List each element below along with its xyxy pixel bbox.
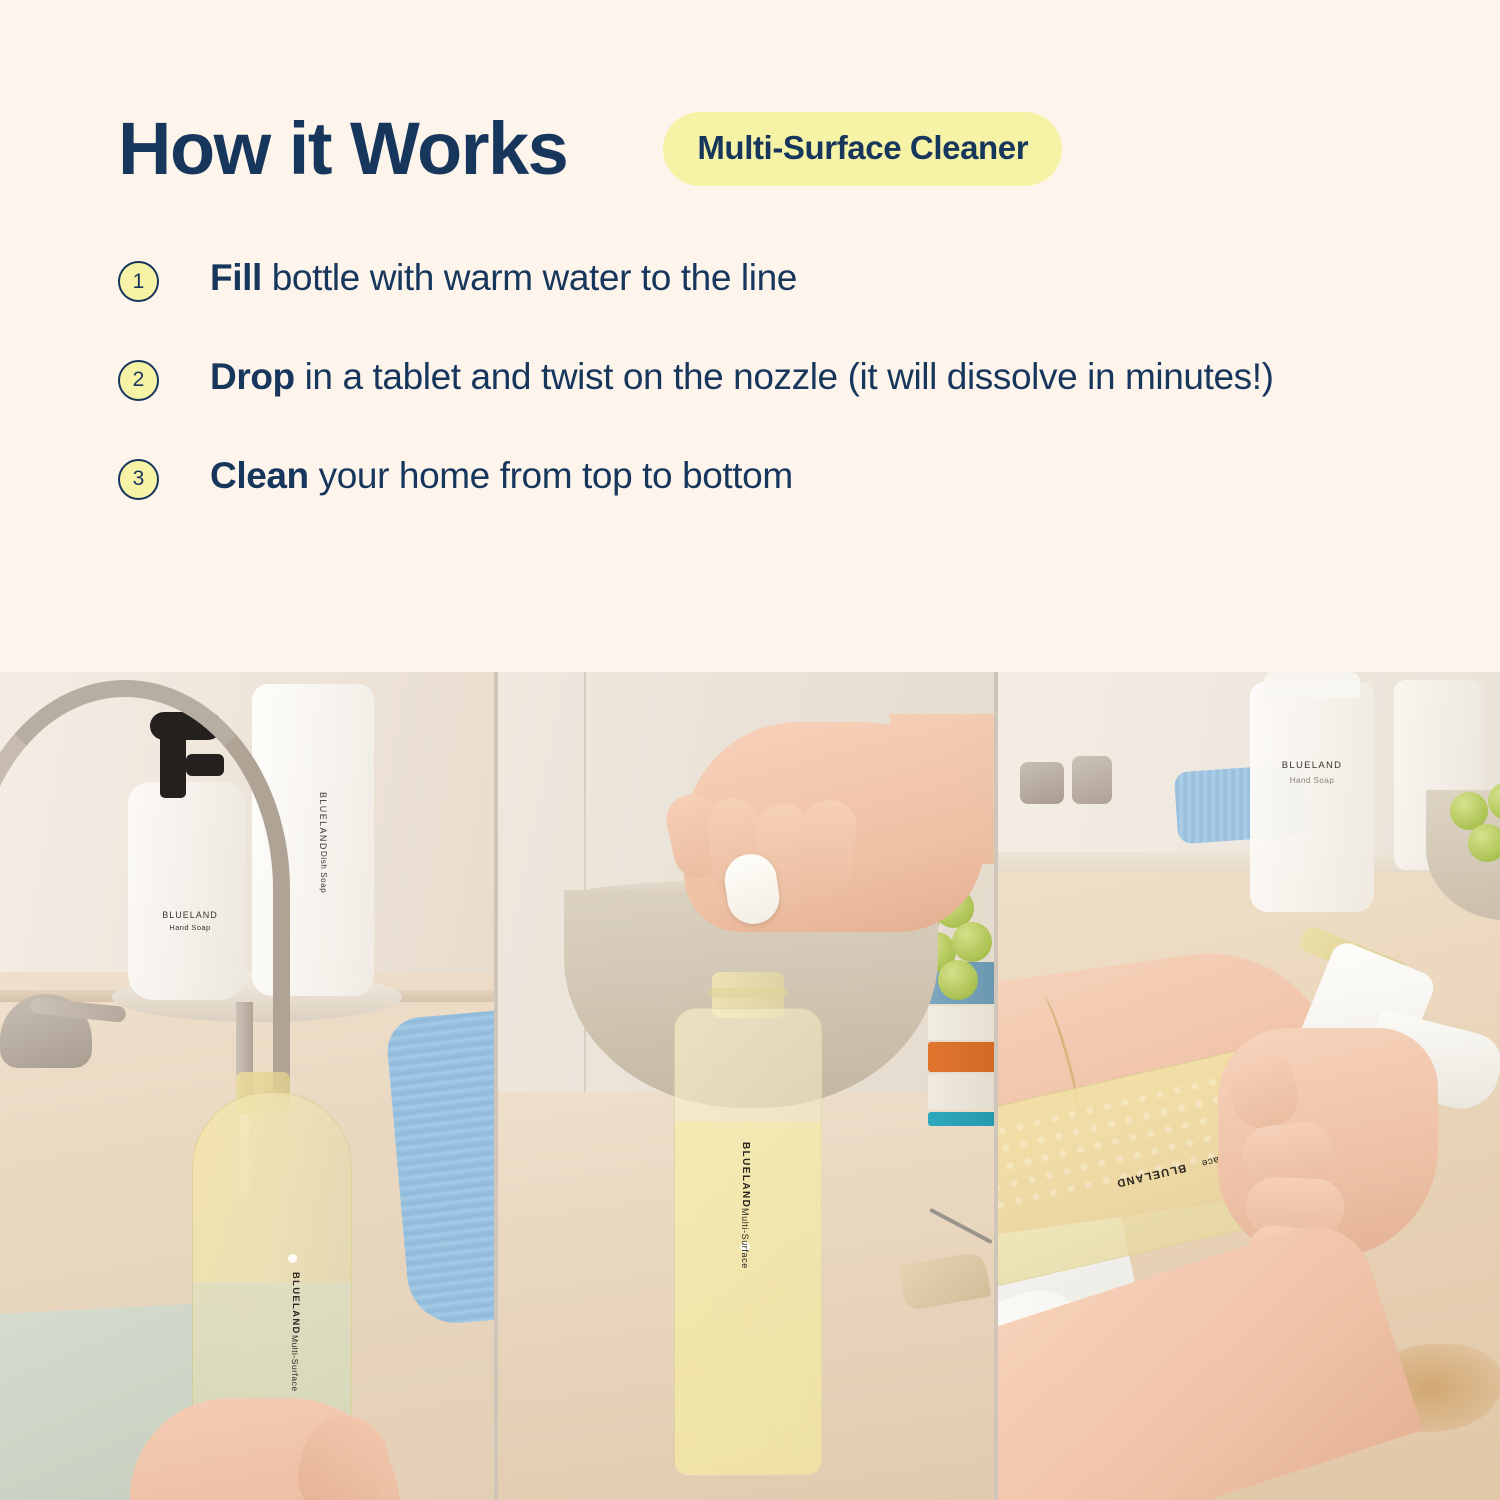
multi-surface-variant: Multi-Surface bbox=[740, 1208, 750, 1269]
product-badge: Multi-Surface Cleaner bbox=[663, 112, 1062, 186]
step-emphasis-2: Drop bbox=[210, 356, 295, 397]
photo-panel-clean: BLUELANDHand Soap Multi-SurfaceBLUELAND bbox=[998, 672, 1500, 1500]
dish-soap-label: BLUELANDDish Soap bbox=[318, 792, 328, 893]
hand-soap-bottle bbox=[1250, 682, 1374, 912]
faucet-knob-left bbox=[1020, 762, 1064, 804]
step-number-badge-2: 2 bbox=[118, 360, 159, 401]
book-blue bbox=[928, 1112, 994, 1126]
multi-surface-variant: Multi-Surface bbox=[290, 1335, 300, 1392]
hand-soap-label: BLUELANDHand Soap bbox=[1256, 760, 1368, 785]
step-rest-3: your home from top to bottom bbox=[309, 455, 793, 496]
faucet-knob-right bbox=[1072, 756, 1112, 804]
book-orange bbox=[928, 1042, 994, 1072]
book-white bbox=[928, 1074, 994, 1110]
hand-soap-cap bbox=[1264, 672, 1360, 698]
step-number-badge-1: 1 bbox=[118, 261, 159, 302]
grape bbox=[952, 922, 992, 962]
photo-panel-drop: BLUELANDMulti-Surface bbox=[498, 672, 994, 1500]
hand-soap-variant: Hand Soap bbox=[1256, 776, 1368, 785]
grape bbox=[938, 960, 978, 1000]
step-emphasis-3: Clean bbox=[210, 455, 309, 496]
steps-list: 1 Fill bottle with warm water to the lin… bbox=[118, 254, 1500, 500]
photo-panel-fill: BLUELANDHand Soap BLUELANDDish Soap BLUE… bbox=[0, 672, 494, 1500]
grape bbox=[1468, 824, 1500, 862]
step-text-3: Clean your home from top to bottom bbox=[210, 452, 793, 501]
step-item-2: 2 Drop in a tablet and twist on the nozz… bbox=[118, 353, 1500, 402]
multi-surface-bottle-label: BLUELANDMulti-Surface bbox=[740, 1142, 751, 1269]
step-rest-1: bottle with warm water to the line bbox=[262, 257, 797, 298]
step-rest-2: in a tablet and twist on the nozzle (it … bbox=[295, 356, 1274, 397]
header-row: How it Works Multi-Surface Cleaner bbox=[118, 112, 1500, 186]
step-text-2: Drop in a tablet and twist on the nozzle… bbox=[210, 353, 1274, 402]
step-emphasis-1: Fill bbox=[210, 257, 262, 298]
step-text-1: Fill bottle with warm water to the line bbox=[210, 254, 797, 303]
multi-surface-bottle-label: BLUELANDMulti-Surface bbox=[290, 1272, 301, 1391]
dish-soap-variant: Dish Soap bbox=[319, 851, 328, 893]
fill-line-dot bbox=[288, 1254, 297, 1263]
instructions-section: How it Works Multi-Surface Cleaner 1 Fil… bbox=[0, 0, 1500, 672]
step-item-3: 3 Clean your home from top to bottom bbox=[118, 452, 1500, 501]
bottle-neck-thread bbox=[708, 988, 788, 998]
step-number-badge-3: 3 bbox=[118, 459, 159, 500]
step-item-1: 1 Fill bottle with warm water to the lin… bbox=[118, 254, 1500, 303]
book-cream bbox=[928, 1006, 994, 1040]
photo-strip: BLUELANDHand Soap BLUELANDDish Soap BLUE… bbox=[0, 672, 1500, 1500]
page-title: How it Works bbox=[118, 112, 567, 186]
